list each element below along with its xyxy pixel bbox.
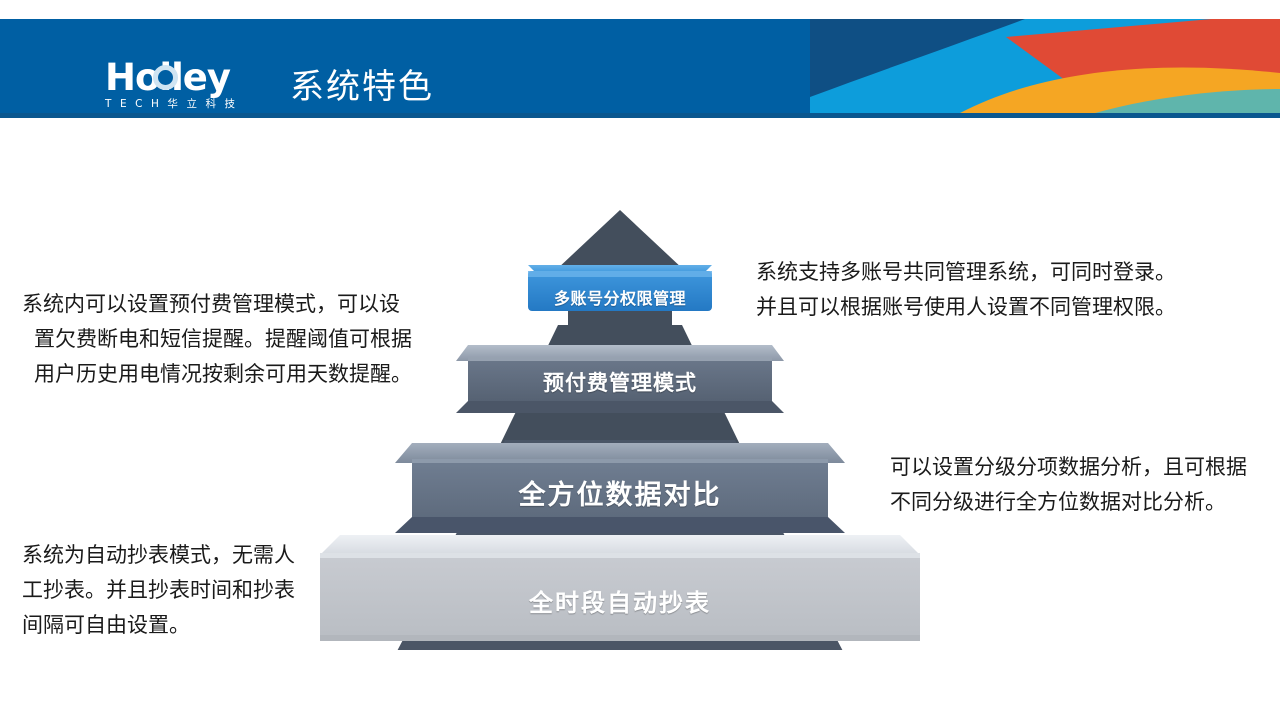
callout-line: 置欠费断电和短信提醒。提醒阈值可根据 (22, 322, 442, 357)
callout-data-comparison: 可以设置分级分项数据分析，且可根据 不同分级进行全方位数据对比分析。 (890, 450, 1280, 520)
company-logo: Holley T E C H 华 立 科 技 (105, 60, 265, 113)
callout-line: 系统支持多账号共同管理系统，可同时登录。 (756, 255, 1196, 290)
header-underline (0, 113, 1280, 118)
callout-line: 不同分级进行全方位数据对比分析。 (890, 485, 1280, 520)
logo-wordmark: Holley (105, 60, 265, 96)
callout-line: 并且可以根据账号使用人设置不同管理权限。 (756, 290, 1196, 325)
header-bar: Holley T E C H 华 立 科 技 系统特色 (0, 19, 1280, 113)
callout-line: 间隔可自由设置。 (22, 608, 342, 643)
callout-auto-meter-reading: 系统为自动抄表模式，无需人 工抄表。并且抄表时间和抄表 间隔可自由设置。 (22, 538, 342, 643)
callout-prepaid-management: 系统内可以设置预付费管理模式，可以设 置欠费断电和短信提醒。提醒阈值可根据 用户… (22, 287, 442, 392)
pyramid-tier-2 (456, 345, 784, 413)
callout-line: 工抄表。并且抄表时间和抄表 (22, 573, 342, 608)
header-swoosh-decoration (810, 19, 1280, 113)
pyramid-tier-4 (320, 535, 920, 641)
page-title: 系统特色 (290, 65, 434, 109)
callout-line: 系统为自动抄表模式，无需人 (22, 538, 342, 573)
callout-multi-account: 系统支持多账号共同管理系统，可同时登录。 并且可以根据账号使用人设置不同管理权限… (756, 255, 1196, 325)
pyramid-tier-1 (528, 265, 712, 311)
logo-ring-icon (153, 65, 178, 90)
callout-line: 系统内可以设置预付费管理模式，可以设 (22, 287, 442, 322)
logo-subtitle: T E C H 华 立 科 技 (105, 98, 265, 111)
pyramid-tier-3 (395, 443, 845, 533)
slide-root: Holley T E C H 华 立 科 技 系统特色 (0, 0, 1280, 720)
callout-line: 可以设置分级分项数据分析，且可根据 (890, 450, 1280, 485)
callout-line: 用户历史用电情况按剩余可用天数提醒。 (22, 357, 442, 392)
